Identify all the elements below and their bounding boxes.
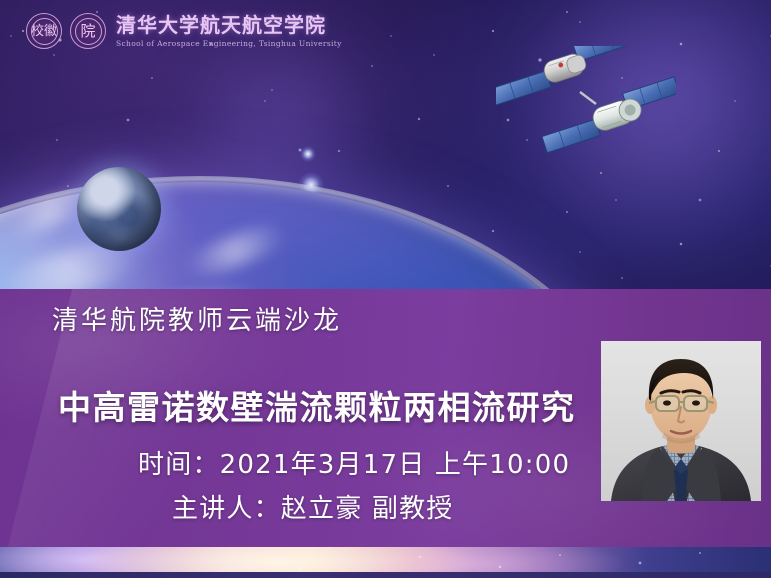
page-title: 中高雷诺数壁湍流颗粒两相流研究 <box>58 381 618 429</box>
bottom-edge-band <box>0 572 771 578</box>
spacecraft-icon <box>496 46 676 156</box>
institution-logo: 校徽 院 清华大学航天航空学院 School of Aerospace Engi… <box>26 13 342 49</box>
logo-bar: 校徽 院 清华大学航天航空学院 School of Aerospace Engi… <box>0 0 771 62</box>
seal-left-glyph: 校徽 <box>27 14 61 48</box>
aerospace-school-seal-icon: 院 <box>70 13 106 49</box>
event-time: 时间：2021年3月17日 上午10:00 <box>138 444 570 481</box>
institution-name-block: 清华大学航天航空学院 School of Aerospace Engineeri… <box>116 15 342 48</box>
seminar-poster: 校徽 院 清华大学航天航空学院 School of Aerospace Engi… <box>0 0 771 578</box>
seal-right-glyph: 院 <box>71 14 105 48</box>
bright-star-small-icon <box>300 146 316 162</box>
institution-name-en: School of Aerospace Engineering, Tsinghu… <box>116 39 342 48</box>
speaker-portrait <box>601 341 761 501</box>
speaker-portrait-image <box>601 341 761 501</box>
series-name: 清华航院教师云端沙龙 <box>52 300 342 337</box>
moon-planet <box>77 167 161 251</box>
tsinghua-university-seal-icon: 校徽 <box>26 13 62 49</box>
event-speaker: 主讲人：赵立豪 副教授 <box>172 488 453 525</box>
institution-name-cn: 清华大学航天航空学院 <box>116 15 342 36</box>
